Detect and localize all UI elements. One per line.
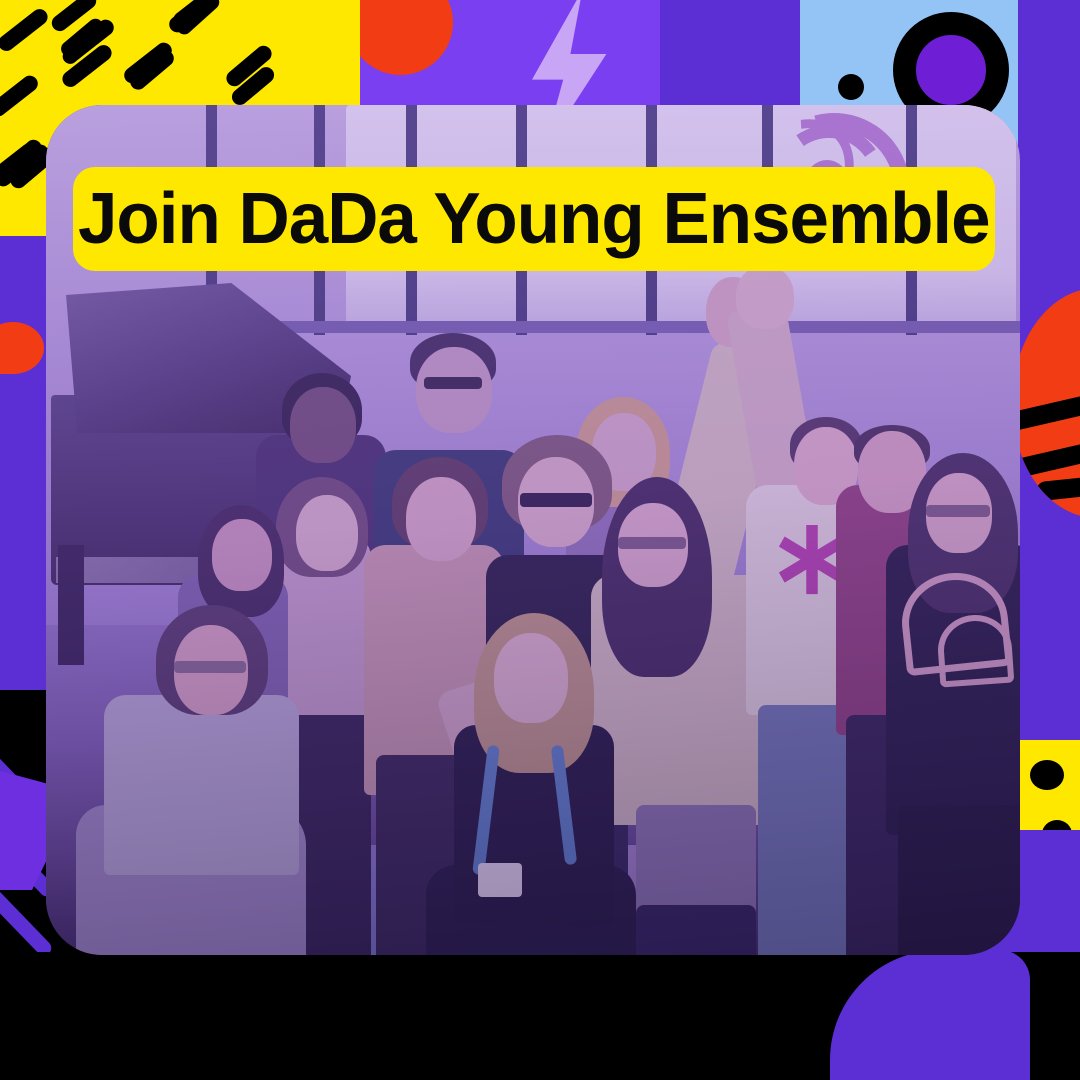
title-banner: Join DaDa Young Ensemble xyxy=(73,167,995,271)
dot-icon xyxy=(1030,760,1064,790)
person-head xyxy=(290,387,356,463)
person-head xyxy=(494,633,568,723)
person-legs xyxy=(636,905,756,955)
person-head xyxy=(212,519,272,591)
glasses-icon xyxy=(520,493,592,507)
person-head xyxy=(416,347,492,433)
glasses-icon xyxy=(424,377,482,389)
ceiling-bar xyxy=(266,321,1020,333)
glasses-icon xyxy=(926,505,990,517)
person-legs xyxy=(898,805,1020,955)
person-head xyxy=(406,477,476,561)
page-title: Join DaDa Young Ensemble xyxy=(78,183,990,255)
person-head xyxy=(296,495,358,571)
person-torso xyxy=(104,695,299,875)
glasses-icon xyxy=(618,537,686,549)
grand-piano-leg xyxy=(58,545,84,665)
lanyard-badge xyxy=(478,863,522,897)
purple-block-left-edge xyxy=(0,236,46,706)
promo-poster: Join DaDa Young Ensemble xyxy=(0,0,1080,1080)
glasses-icon xyxy=(174,661,246,673)
person-raised-hand xyxy=(736,265,794,329)
dot-icon xyxy=(838,74,864,100)
stripe-icon xyxy=(1012,370,1080,434)
